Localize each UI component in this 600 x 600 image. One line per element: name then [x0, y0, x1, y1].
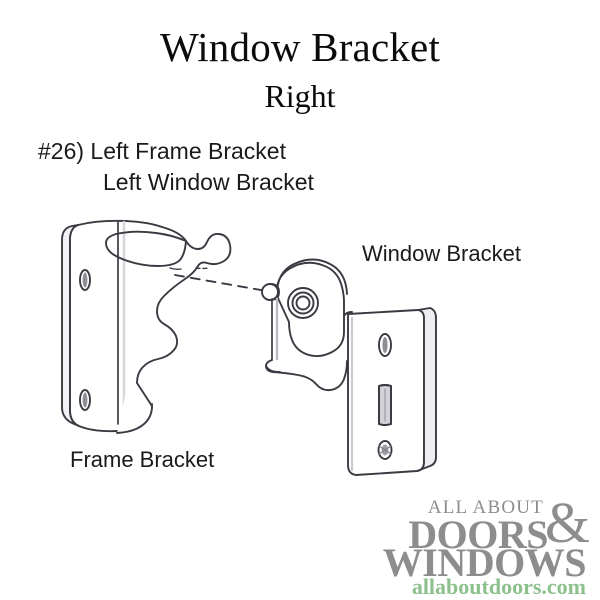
- logo-website-url: allaboutdoors.com: [412, 576, 586, 598]
- brand-logo: ALL ABOUT & DOORS WINDOWS allaboutdoors.…: [398, 492, 588, 592]
- window-bracket-adjustment-slot: [379, 385, 391, 425]
- window-bracket-pivot-pin: [262, 284, 279, 300]
- frame-bracket-screw-hole-top: [80, 270, 90, 290]
- parts-diagram-page: Window Bracket Right #26) Left Frame Bra…: [0, 0, 600, 600]
- window-bracket-drawing: [262, 260, 436, 476]
- frame-bracket-screw-hole-bottom: [80, 390, 90, 410]
- window-bracket-pivot-boss: [288, 288, 318, 318]
- frame-bracket-drawing: [62, 221, 230, 433]
- window-bracket-screw-hole-top: [379, 334, 391, 356]
- window-bracket-screw-hole-bottom: [379, 441, 392, 459]
- assembly-dashed-line: [175, 275, 272, 292]
